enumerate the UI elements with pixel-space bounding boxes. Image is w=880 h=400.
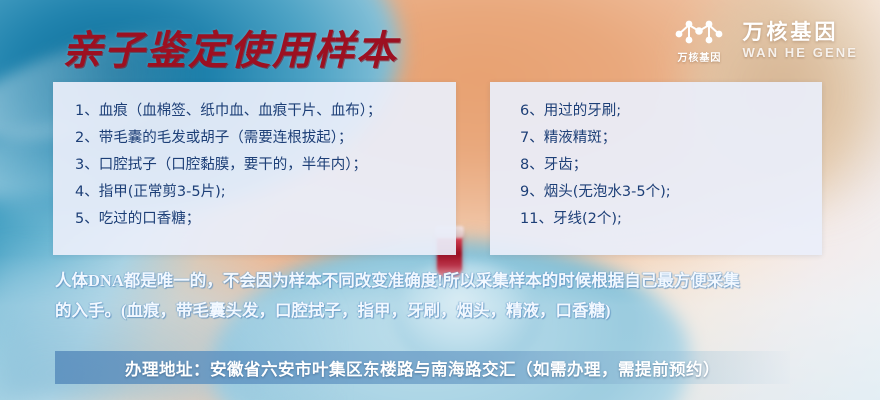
list-item: 11、牙线(2个); <box>490 206 822 233</box>
list-item: 2、带毛囊的毛发或胡子（需要连根拔起）； <box>53 125 456 152</box>
note-line-2: 的入手。(血痕，带毛囊头发，口腔拭子，指甲，牙刷，烟头，精液，口香糖) <box>55 296 845 326</box>
brand-lockup: 万核基因 万核基因 WAN HE GENE <box>672 18 858 64</box>
list-item: 9、烟头(无泡水3-5个); <box>490 179 822 206</box>
sample-panel-right: 6、用过的牙刷; 7、精液精斑； 8、牙齿； 9、烟头(无泡水3-5个); 11… <box>490 82 822 255</box>
list-item: 3、口腔拭子（口腔黏膜，要干的，半年内）； <box>53 152 456 179</box>
note-line-1: 人体DNA都是唯一的，不会因为样本不同改变准确度!所以采集样本的时候根据自己最方… <box>55 266 845 296</box>
address-banner: 办理地址：安徽省六安市叶集区东楼路与南海路交汇（如需办理，需提前预约） <box>55 351 790 384</box>
list-item: 8、牙齿； <box>490 152 822 179</box>
molecule-dna-icon <box>672 18 726 46</box>
address-text: 办理地址：安徽省六安市叶集区东楼路与南海路交汇（如需办理，需提前预约） <box>125 356 720 380</box>
brand-name-cn: 万核基因 <box>742 21 858 45</box>
list-item: 1、血痕（血棉签、纸巾血、血痕干片、血布）； <box>53 98 456 125</box>
sample-list-right: 6、用过的牙刷; 7、精液精斑； 8、牙齿； 9、烟头(无泡水3-5个); 11… <box>490 82 822 233</box>
page-title: 亲子鉴定使用样本 <box>62 18 398 76</box>
brand-logo: 万核基因 <box>672 18 726 64</box>
brand-logo-label: 万核基因 <box>677 49 721 64</box>
sample-list-left: 1、血痕（血棉签、纸巾血、血痕干片、血布）； 2、带毛囊的毛发或胡子（需要连根拔… <box>53 82 456 233</box>
sample-panel-left: 1、血痕（血棉签、纸巾血、血痕干片、血布）； 2、带毛囊的毛发或胡子（需要连根拔… <box>53 82 456 255</box>
brand-name-block: 万核基因 WAN HE GENE <box>742 21 858 60</box>
poster-canvas: 亲子鉴定使用样本 <box>0 0 880 400</box>
brand-name-en: WAN HE GENE <box>742 46 858 61</box>
list-item: 4、指甲(正常剪3-5片); <box>53 179 456 206</box>
list-item: 6、用过的牙刷; <box>490 98 822 125</box>
list-item: 5、吃过的口香糖； <box>53 206 456 233</box>
list-item: 7、精液精斑； <box>490 125 822 152</box>
explanatory-note: 人体DNA都是唯一的，不会因为样本不同改变准确度!所以采集样本的时候根据自己最方… <box>55 266 845 326</box>
